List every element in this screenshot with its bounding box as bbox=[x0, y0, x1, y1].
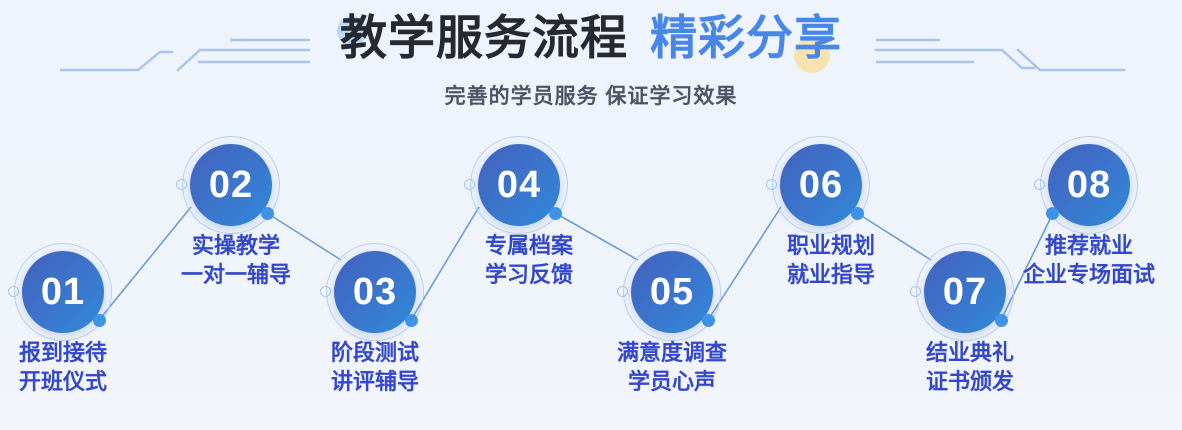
step-hollow-dot-icon bbox=[617, 286, 628, 297]
step-number-text: 07 bbox=[943, 273, 987, 311]
page-title: 教学服务流程精彩分享 bbox=[0, 14, 1182, 61]
step-label-line1: 专属档案 bbox=[485, 233, 573, 258]
step-label-line1: 阶段测试 bbox=[331, 340, 419, 365]
header-section: 教学服务流程精彩分享 完善的学员服务 保证学习效果 bbox=[0, 0, 1182, 120]
step-connector-dot-icon bbox=[702, 314, 715, 327]
step-label-04: 专属档案学习反馈 bbox=[485, 231, 573, 289]
step-label-line1: 推荐就业 bbox=[1045, 233, 1133, 258]
step-number-badge[interactable]: 03 bbox=[334, 251, 416, 333]
step-number-badge[interactable]: 01 bbox=[22, 251, 104, 333]
step-number-text: 06 bbox=[799, 166, 843, 204]
step-label-line2: 就业指导 bbox=[787, 260, 875, 289]
connector-line bbox=[99, 207, 191, 320]
step-number-badge[interactable]: 05 bbox=[631, 251, 713, 333]
step-connector-dot-icon bbox=[995, 314, 1008, 327]
step-connector-dot-icon bbox=[851, 207, 864, 220]
step-number-text: 03 bbox=[353, 273, 397, 311]
step-label-line1: 满意度调查 bbox=[617, 340, 727, 365]
title-main-text: 教学服务流程 bbox=[340, 11, 628, 64]
step-connector-dot-icon bbox=[93, 314, 106, 327]
step-hollow-dot-icon bbox=[766, 179, 777, 190]
step-label-line1: 职业规划 bbox=[787, 233, 875, 258]
title-accent-text: 精彩分享 bbox=[650, 11, 842, 64]
step-hollow-dot-icon bbox=[910, 286, 921, 297]
step-connector-dot-icon bbox=[1046, 207, 1059, 220]
step-hollow-dot-icon bbox=[1034, 179, 1045, 190]
step-label-08: 推荐就业企业专场面试 bbox=[1023, 231, 1155, 289]
page-subtitle: 完善的学员服务 保证学习效果 bbox=[0, 80, 1182, 110]
step-label-line2: 企业专场面试 bbox=[1023, 260, 1155, 289]
step-number-text: 05 bbox=[650, 273, 694, 311]
step-label-01: 报到接待开班仪式 bbox=[19, 338, 107, 396]
step-label-03: 阶段测试讲评辅导 bbox=[331, 338, 419, 396]
step-label-02: 实操教学一对一辅导 bbox=[181, 231, 291, 289]
step-label-line1: 报到接待 bbox=[19, 340, 107, 365]
step-number-text: 04 bbox=[497, 166, 541, 204]
step-number-text: 02 bbox=[209, 166, 253, 204]
step-label-line2: 学习反馈 bbox=[485, 260, 573, 289]
step-label-line1: 结业典礼 bbox=[926, 340, 1014, 365]
step-number-badge[interactable]: 07 bbox=[924, 251, 1006, 333]
step-label-line2: 证书颁发 bbox=[926, 367, 1014, 396]
step-label-06: 职业规划就业指导 bbox=[787, 231, 875, 289]
infographic-canvas: 教学服务流程精彩分享 完善的学员服务 保证学习效果 01报到接待开班仪式02实操… bbox=[0, 0, 1182, 430]
step-number-text: 08 bbox=[1067, 166, 1111, 204]
step-label-07: 结业典礼证书颁发 bbox=[926, 338, 1014, 396]
step-label-line2: 讲评辅导 bbox=[331, 367, 419, 396]
step-label-line2: 学员心声 bbox=[617, 367, 727, 396]
step-number-text: 01 bbox=[41, 273, 85, 311]
step-number-badge[interactable]: 08 bbox=[1048, 144, 1130, 226]
step-label-line1: 实操教学 bbox=[192, 233, 280, 258]
step-connector-dot-icon bbox=[549, 207, 562, 220]
step-label-05: 满意度调查学员心声 bbox=[617, 338, 727, 396]
step-hollow-dot-icon bbox=[176, 179, 187, 190]
step-hollow-dot-icon bbox=[8, 286, 19, 297]
step-hollow-dot-icon bbox=[464, 179, 475, 190]
step-number-badge[interactable]: 02 bbox=[190, 144, 272, 226]
step-number-badge[interactable]: 04 bbox=[478, 144, 560, 226]
step-number-badge[interactable]: 06 bbox=[780, 144, 862, 226]
step-label-line2: 开班仪式 bbox=[19, 367, 107, 396]
step-label-line2: 一对一辅导 bbox=[181, 260, 291, 289]
step-hollow-dot-icon bbox=[320, 286, 331, 297]
step-connector-dot-icon bbox=[261, 207, 274, 220]
step-connector-dot-icon bbox=[405, 314, 418, 327]
